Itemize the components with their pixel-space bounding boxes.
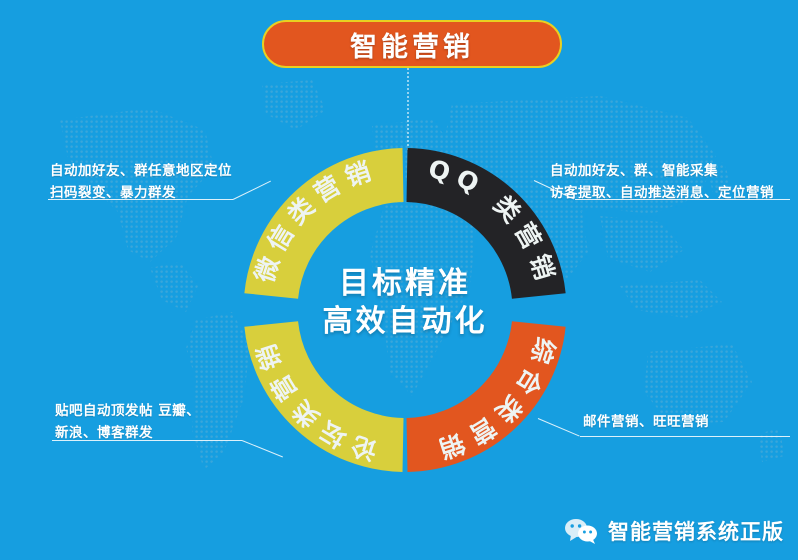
page-title-pill: 智能营销 — [262, 20, 562, 68]
donut-diagram: QQ 类营销 综合类营销 论坛类营销 微信类营销 — [243, 148, 567, 472]
wechat-icon — [564, 518, 598, 544]
callout-bottom-left-line-2: 新浪、博客群发 — [55, 422, 200, 444]
callout-bottom-right-rule — [580, 436, 790, 437]
footer-brand: 智能营销系统正版 — [564, 516, 784, 546]
callout-top-left: 自动加好友、群任意地区定位 扫码裂变、暴力群发 — [50, 160, 232, 205]
callout-top-left-rule — [48, 199, 233, 200]
callout-bottom-left-line-1: 贴吧自动顶发帖 豆瓣、 — [55, 400, 200, 422]
callout-top-right-line-2: 访客提取、自动推送消息、定位营销 — [550, 182, 774, 204]
poster-canvas: 智能营销 — [0, 0, 798, 560]
callout-bottom-left: 贴吧自动顶发帖 豆瓣、 新浪、博客群发 — [55, 400, 200, 445]
callout-bottom-right-line-1: 邮件营销、旺旺营销 — [583, 411, 709, 433]
callout-bottom-left-rule — [52, 440, 242, 441]
dotted-connector-icon — [407, 68, 409, 150]
callout-top-right: 自动加好友、群、智能采集 访客提取、自动推送消息、定位营销 — [550, 160, 774, 205]
callout-top-right-line-1: 自动加好友、群、智能采集 — [550, 160, 774, 182]
callout-top-right-rule — [575, 199, 790, 200]
brand-name: 智能营销系统正版 — [608, 516, 784, 546]
callout-top-left-line-1: 自动加好友、群任意地区定位 — [50, 160, 232, 182]
callout-bottom-right: 邮件营销、旺旺营销 — [583, 411, 709, 433]
page-title: 智能营销 — [350, 25, 474, 64]
callout-top-left-line-2: 扫码裂变、暴力群发 — [50, 182, 232, 204]
